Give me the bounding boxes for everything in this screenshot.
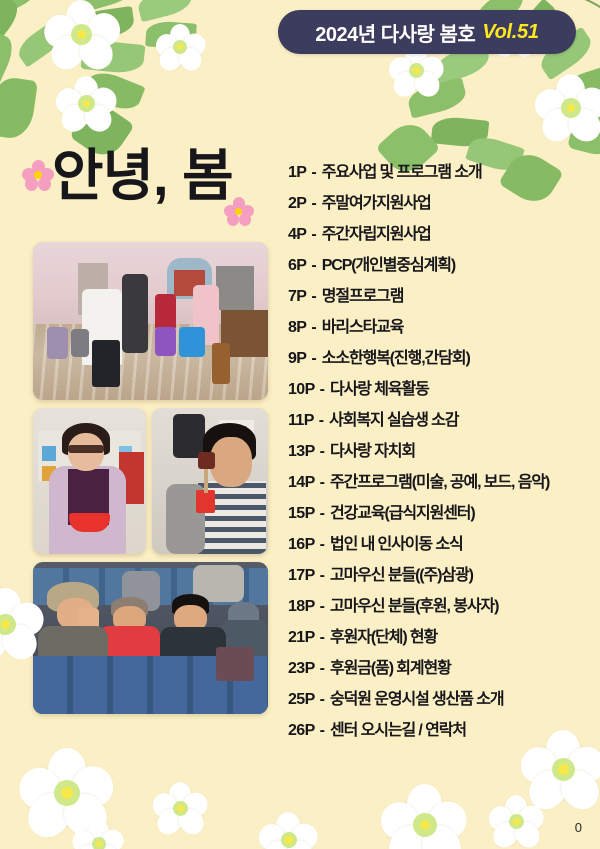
toc-dash: - xyxy=(320,660,325,678)
toc-entry[interactable]: 2P - 주말여가지원사업 xyxy=(288,189,588,220)
toc-dash: - xyxy=(311,226,316,244)
toc-entry[interactable]: 17P - 고마우신 분들((주)삼광) xyxy=(288,561,588,592)
toc-dash: - xyxy=(311,319,316,337)
toc-entry-title: 센터 오시는길 / 연락처 xyxy=(330,716,466,740)
white-flower-icon xyxy=(0,588,44,662)
toc-dash: - xyxy=(320,722,325,740)
toc-dash: - xyxy=(320,598,325,616)
toc-page-number: 6P xyxy=(288,257,306,275)
toc-dash: - xyxy=(320,474,325,492)
toc-dash: - xyxy=(320,443,325,461)
white-flower-icon xyxy=(55,76,117,134)
theater-outing-photo xyxy=(33,562,268,714)
toc-dash: - xyxy=(319,412,324,430)
toc-dash: - xyxy=(311,350,316,368)
toc-entry[interactable]: 9P - 소소한행복(진행,간담회) xyxy=(288,344,588,375)
toc-entry-title: 명절프로그램 xyxy=(322,282,404,306)
toc-entry-title: 사회복지 실습생 소감 xyxy=(329,406,458,430)
toc-dash: - xyxy=(320,629,325,647)
toc-dash: - xyxy=(320,536,325,554)
toc-page-number: 23P xyxy=(288,660,315,678)
toc-entry[interactable]: 7P - 명절프로그램 xyxy=(288,282,588,313)
banner-volume: Vol.51 xyxy=(482,21,538,44)
toc-entry-title: 숭덕원 운영시설 생산품 소개 xyxy=(330,685,503,709)
toc-entry[interactable]: 15P - 건강교육(급식지원센터) xyxy=(288,499,588,530)
leaf-icon xyxy=(0,0,24,49)
issue-banner: 2024년 다사랑 봄호 Vol.51 xyxy=(278,10,576,54)
white-flower-icon xyxy=(155,24,205,72)
toc-entry-title: 주요사업 및 프로그램 소개 xyxy=(322,158,482,182)
newsletter-cover-page: 2024년 다사랑 봄호 Vol.51 안녕, 봄 xyxy=(0,0,600,849)
toc-page-number: 2P xyxy=(288,195,306,213)
toc-entry-title: 소소한행복(진행,간담회) xyxy=(322,344,470,368)
toc-entry[interactable]: 1P - 주요사업 및 프로그램 소개 xyxy=(288,158,588,189)
leaf-icon xyxy=(0,75,38,141)
white-flower-icon xyxy=(534,74,600,144)
toc-entry-title: 고마우신 분들(후원, 봉사자) xyxy=(330,592,498,616)
toc-entry[interactable]: 10P - 다사랑 체육활동 xyxy=(288,375,588,406)
toc-entry[interactable]: 13P - 다사랑 자치회 xyxy=(288,437,588,468)
toc-page-number: 16P xyxy=(288,536,315,554)
toc-entry-title: 법인 내 인사이동 소식 xyxy=(330,530,463,554)
toc-dash: - xyxy=(311,195,316,213)
toc-page-number: 25P xyxy=(288,691,315,709)
toc-dash: - xyxy=(320,505,325,523)
toc-entry[interactable]: 11P - 사회복지 실습생 소감 xyxy=(288,406,588,437)
toc-page-number: 14P xyxy=(288,474,315,492)
toc-page-number: 11P xyxy=(288,412,314,430)
toc-page-number: 7P xyxy=(288,288,306,306)
toc-page-number: 1P xyxy=(288,164,306,182)
toc-entry[interactable]: 6P - PCP(개인별중심계획) xyxy=(288,251,588,282)
toc-entry[interactable]: 18P - 고마우신 분들(후원, 봉사자) xyxy=(288,592,588,623)
toc-dash: - xyxy=(320,567,325,585)
toc-entry-title: 바리스타교육 xyxy=(322,313,404,337)
toc-page-number: 18P xyxy=(288,598,315,616)
white-flower-icon xyxy=(42,0,122,72)
toc-dash: - xyxy=(311,288,316,306)
toc-entry-title: 건강교육(급식지원센터) xyxy=(330,499,475,523)
white-flower-icon xyxy=(152,782,208,836)
toc-dash: - xyxy=(320,691,325,709)
toc-entry-title: 주말여가지원사업 xyxy=(322,189,431,213)
toc-entry[interactable]: 16P - 법인 내 인사이동 소식 xyxy=(288,530,588,561)
toc-entry-title: 주간프로그램(미술, 공예, 보드, 음악) xyxy=(330,468,549,492)
toc-entry-title: PCP(개인별중심계획) xyxy=(322,251,455,275)
toc-entry[interactable]: 26P - 센터 오시는길 / 연락처 xyxy=(288,716,588,747)
toc-page-number: 17P xyxy=(288,567,315,585)
leaf-icon xyxy=(0,0,43,17)
toc-dash: - xyxy=(311,257,316,275)
leaf-icon xyxy=(136,0,195,22)
toc-entry[interactable]: 25P - 숭덕원 운영시설 생산품 소개 xyxy=(288,685,588,716)
banner-title: 2024년 다사랑 봄호 xyxy=(315,18,475,47)
toc-entry[interactable]: 23P - 후원금(품) 회계현황 xyxy=(288,654,588,685)
pink-flower-icon xyxy=(22,160,54,191)
toc-page-number: 15P xyxy=(288,505,315,523)
toc-page-number: 10P xyxy=(288,381,315,399)
group-activity-photo xyxy=(33,242,268,400)
toc-entry[interactable]: 21P - 후원자(단체) 현황 xyxy=(288,623,588,654)
table-of-contents: 1P - 주요사업 및 프로그램 소개 2P - 주말여가지원사업 4P - 주… xyxy=(288,158,588,747)
toc-dash: - xyxy=(311,164,316,182)
toc-page-number: 9P xyxy=(288,350,306,368)
white-flower-icon xyxy=(258,812,318,849)
page-title: 안녕, 봄 xyxy=(52,148,233,204)
leaf-icon xyxy=(431,115,490,149)
white-flower-icon xyxy=(380,784,468,849)
toc-page-number: 8P xyxy=(288,319,306,337)
toc-entry-title: 다사랑 자치회 xyxy=(330,437,415,461)
toc-entry[interactable]: 8P - 바리스타교육 xyxy=(288,313,588,344)
toc-page-number: 4P xyxy=(288,226,306,244)
toc-page-number: 13P xyxy=(288,443,315,461)
toc-entry-title: 후원자(단체) 현황 xyxy=(330,623,437,647)
snack-participant-photo xyxy=(152,408,268,554)
toc-entry-title: 후원금(품) 회계현황 xyxy=(330,654,451,678)
toc-page-number: 26P xyxy=(288,722,315,740)
toc-entry-title: 주간자립지원사업 xyxy=(322,220,431,244)
toc-dash: - xyxy=(320,381,325,399)
toc-entry[interactable]: 14P - 주간프로그램(미술, 공예, 보드, 음악) xyxy=(288,468,588,499)
craft-participant-photo xyxy=(33,408,146,554)
page-number: 0 xyxy=(575,820,582,835)
toc-entry-title: 고마우신 분들((주)삼광) xyxy=(330,561,473,585)
toc-page-number: 21P xyxy=(288,629,315,647)
toc-entry[interactable]: 4P - 주간자립지원사업 xyxy=(288,220,588,251)
leaf-icon xyxy=(0,32,18,90)
white-flower-icon xyxy=(72,820,124,849)
toc-entry-title: 다사랑 체육활동 xyxy=(330,375,429,399)
